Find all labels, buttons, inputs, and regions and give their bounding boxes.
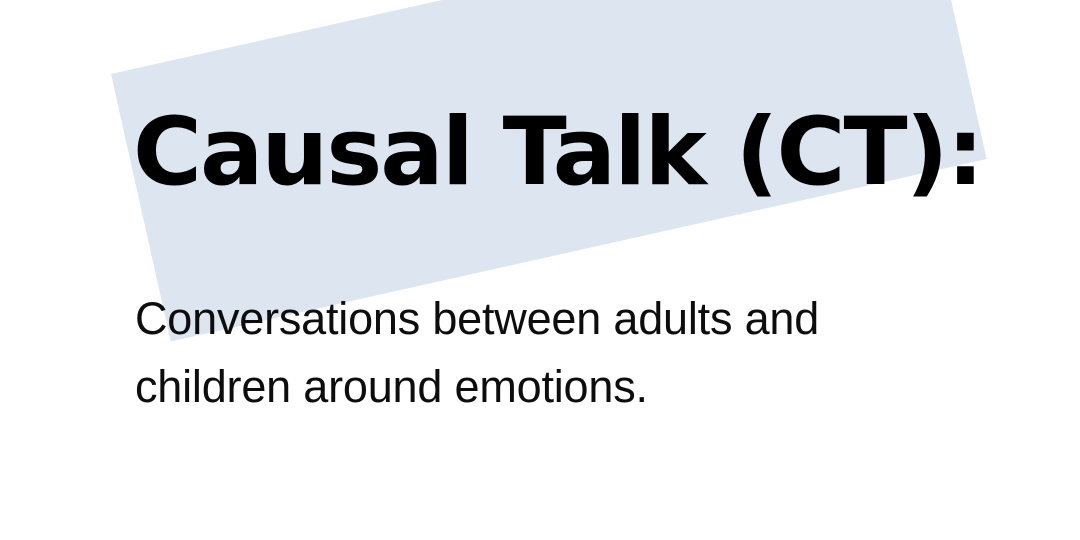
definition-description-line-1: Conversations between adults and <box>135 285 935 353</box>
definition-title: Causal Talk (CT): <box>133 106 982 200</box>
definition-description: Conversations between adults and childre… <box>135 285 935 421</box>
definition-description-line-2: children around emotions. <box>135 353 935 421</box>
slide-canvas: Causal Talk (CT): Conversations between … <box>0 0 1080 540</box>
text-block: Causal Talk (CT): Conversations between … <box>0 0 1080 540</box>
